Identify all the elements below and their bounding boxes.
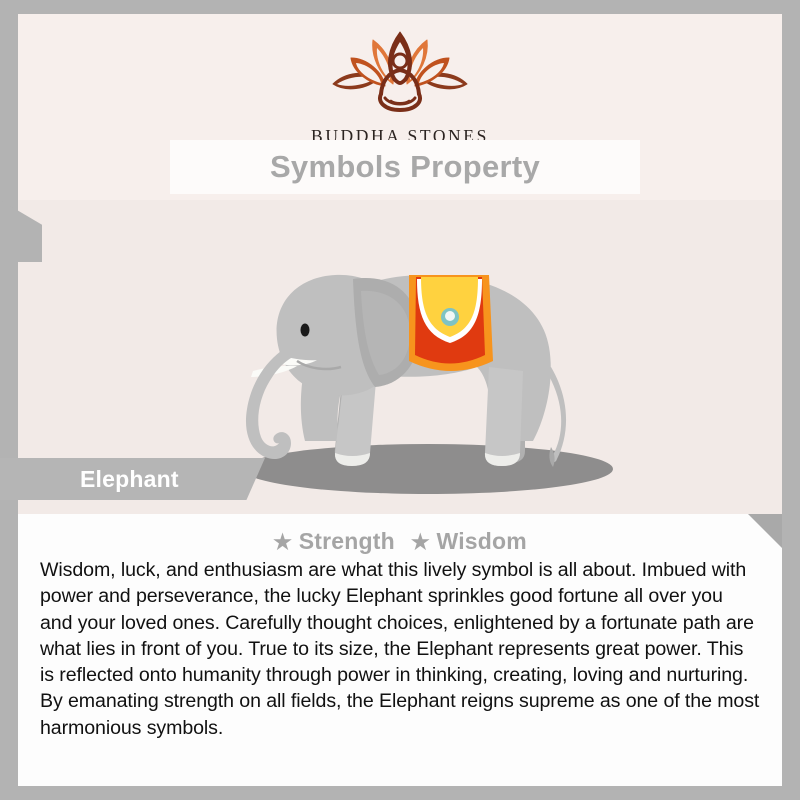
trait-strength: ★ Strength xyxy=(273,528,395,554)
lotus-meditation-figure-icon xyxy=(18,28,782,124)
symbol-name: Elephant xyxy=(80,466,179,493)
symbol-description: Wisdom, luck, and enthusiasm are what th… xyxy=(18,555,782,741)
description-panel: ★ Strength★ Wisdom Wisdom, luck, and ent… xyxy=(18,514,782,786)
page-title: Symbols Property xyxy=(270,149,540,185)
symbol-name-banner: Elephant xyxy=(0,458,265,500)
brand-logo: BUDDHA STONES xyxy=(18,28,782,147)
trait-list: ★ Strength★ Wisdom xyxy=(18,514,782,555)
card-canvas: BUDDHA STONES Symbols Property xyxy=(18,14,782,786)
trait-wisdom: ★ Wisdom xyxy=(411,528,527,554)
page-title-band: Symbols Property xyxy=(170,140,640,194)
trait-wisdom-label: Wisdom xyxy=(436,528,526,554)
trait-strength-label: Strength xyxy=(299,528,395,554)
star-icon: ★ xyxy=(273,531,292,554)
symbol-property-card: BUDDHA STONES Symbols Property xyxy=(0,0,800,800)
star-icon: ★ xyxy=(411,531,430,554)
